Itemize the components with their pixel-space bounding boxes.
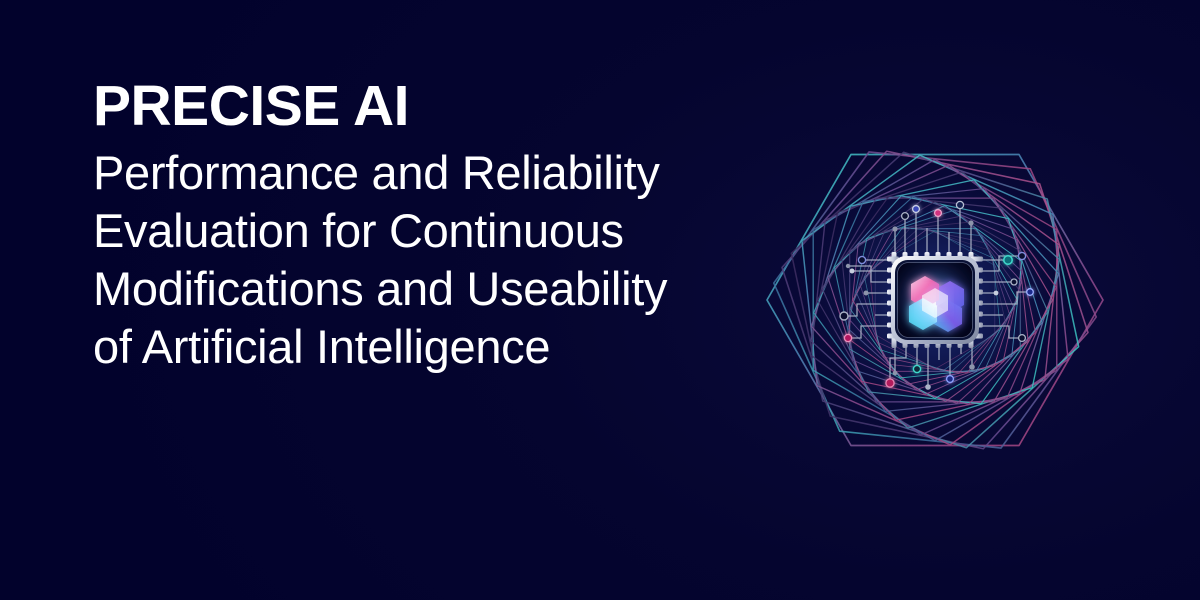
subtitle: Performance and Reliability Evaluation f…: [93, 144, 713, 376]
page-title: PRECISE AI: [93, 74, 733, 138]
text-block: PRECISE AI Performance and Reliability E…: [93, 74, 733, 376]
hexagon-cube-logo-icon: [899, 264, 971, 336]
ai-chip-graphic: [745, 110, 1125, 490]
banner-root: PRECISE AI Performance and Reliability E…: [0, 0, 1200, 600]
